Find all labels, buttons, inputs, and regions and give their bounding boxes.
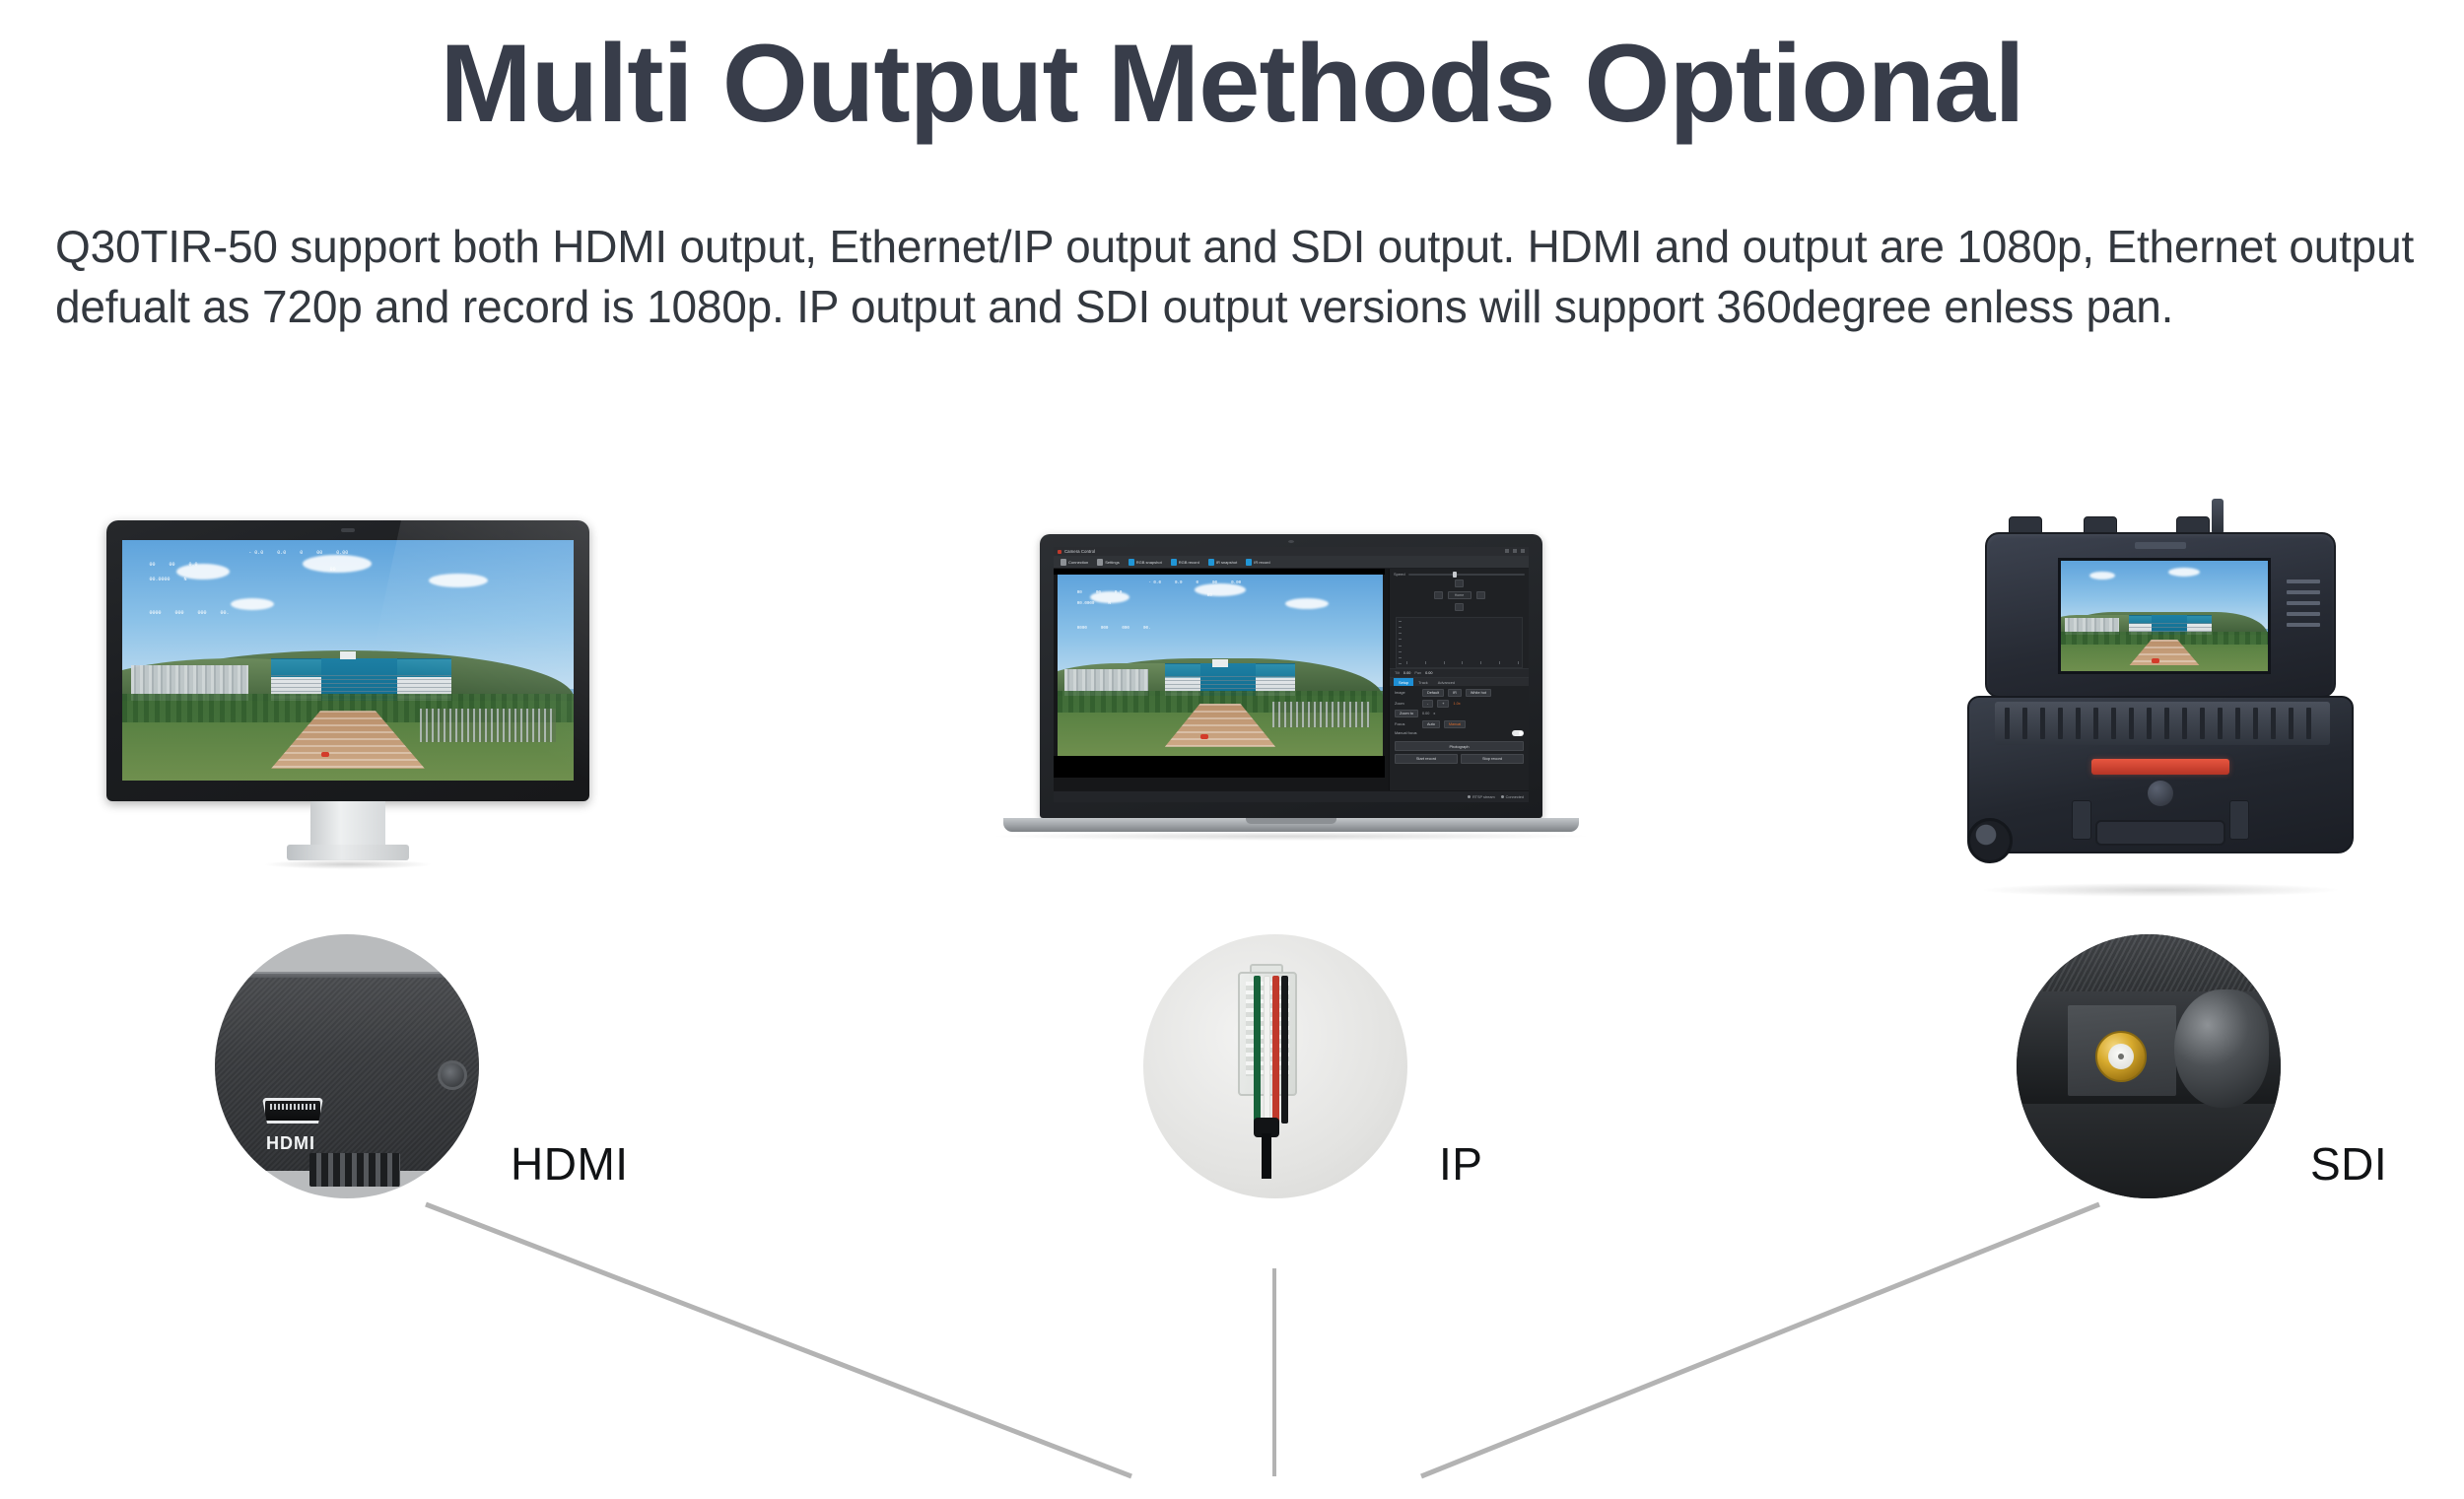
row-focus: Focus Auto Manual [1395, 720, 1524, 728]
osd-top-center-row-1: - 0.0 0.0 0 00 0.00 [1148, 581, 1241, 585]
toolbar-label: Connection [1068, 560, 1088, 565]
monitor-shadow [263, 859, 433, 869]
monitor-stand-foot [287, 845, 409, 860]
row-zoom-to: Zoom to 0.00 x [1395, 710, 1524, 717]
laptop-lid: Camera Control Connection [1040, 534, 1542, 818]
hdmi-closeup-circle: HDMI [215, 934, 479, 1198]
monitor-bezel: - 0.0 0.0 0 00 0.00 00 00 00 0.0 [106, 520, 589, 801]
display-button[interactable] [2287, 601, 2320, 605]
device-rugged-case [1953, 512, 2367, 877]
video-scene [2061, 561, 2268, 671]
slider-thumb[interactable] [1453, 572, 1457, 578]
osd-top-center-row-1: - 0.0 0.0 0 00 0.00 [248, 550, 348, 556]
toolbar-item-ir-snapshot[interactable]: IR snapshot [1205, 558, 1240, 567]
device-laptop: Camera Control Connection [995, 534, 1587, 879]
status-connection: Connected [1501, 795, 1524, 799]
antenna [2212, 499, 2224, 534]
page-title: Multi Output Methods Optional [0, 26, 2464, 143]
osd-overlay: - 0.0 0.0 0 00 0.00 00 00 00 0.0 [122, 540, 574, 781]
speed-slider[interactable] [1408, 574, 1525, 576]
wire-red [1272, 976, 1279, 1124]
osd-top-left-row-3: 0000 000 000 00. [1077, 627, 1151, 631]
monitor-stand-neck [310, 801, 385, 851]
pan-label: Pan [1414, 671, 1421, 675]
zoom-to-unit: x [1433, 712, 1435, 715]
close-icon[interactable] [1521, 549, 1525, 553]
tab-setup[interactable]: Setup [1394, 678, 1413, 686]
panel-tabs: Setup Track Advanced [1390, 678, 1529, 686]
row-label: Manual focus [1395, 731, 1418, 735]
record-icon [1171, 559, 1177, 566]
toolbar-label: RGB record [1179, 560, 1199, 565]
speed-label: Speed [1394, 572, 1405, 577]
lid-latch [2135, 542, 2186, 549]
display-button[interactable] [2287, 590, 2320, 594]
photograph-button[interactable]: Photograph [1395, 741, 1524, 751]
status-bar: RTSP stream Connected [1054, 790, 1529, 802]
case-lid [1985, 532, 2336, 698]
hdmi-port-pins [270, 1104, 315, 1110]
dpad-left-button[interactable] [1434, 591, 1443, 599]
toolbar-item-connection[interactable]: Connection [1058, 558, 1091, 567]
maximize-icon[interactable] [1513, 549, 1517, 553]
row-label: Zoom [1395, 702, 1418, 706]
graph-x-axis [1406, 661, 1519, 665]
focus-auto-button[interactable]: Auto [1422, 720, 1440, 728]
display-button[interactable] [2287, 579, 2320, 583]
case-display [2058, 558, 2271, 674]
output-label-ip: IP [1439, 1137, 1482, 1191]
focus-manual-button[interactable]: Manual [1444, 720, 1466, 728]
camera-icon [1208, 559, 1214, 566]
toolbar-label: RGB snapshot [1136, 560, 1162, 565]
graph-y-axis [1399, 621, 1404, 664]
video-letterbox-bottom [1054, 756, 1385, 778]
status-stream: RTSP stream [1468, 795, 1495, 799]
status-indicator-strip [2091, 759, 2229, 775]
sdi-closeup-circle [2017, 934, 2281, 1198]
device-desktop-monitor: - 0.0 0.0 0 00 0.00 00 00 00 0.0 [106, 520, 589, 875]
zoom-to-button[interactable]: Zoom to [1395, 710, 1418, 717]
toolbar-label: IR record [1254, 560, 1269, 565]
case-interior-tray [1995, 702, 2330, 745]
toolbar-label: Settings [1105, 560, 1119, 565]
app-logo-icon [1058, 550, 1061, 554]
laptop-screen: Camera Control Connection [1054, 547, 1529, 802]
wire-black [1281, 976, 1288, 1124]
case-clasp-left[interactable] [2072, 800, 2091, 840]
image-ir-button[interactable]: IR [1448, 689, 1462, 697]
row-label: Focus [1395, 722, 1418, 726]
stop-record-button[interactable]: Stop record [1461, 754, 1524, 764]
display-buttons[interactable] [2287, 579, 2320, 627]
output-label-sdi: SDI [2310, 1137, 2387, 1191]
image-default-button[interactable]: Default [1422, 689, 1444, 697]
gimbal-top-housing [2017, 934, 2281, 993]
zoom-out-button[interactable]: - [1422, 700, 1433, 708]
ptz-dpad[interactable]: Home [1390, 578, 1529, 617]
speed-control[interactable]: Speed [1390, 569, 1529, 578]
control-panel: Speed Home [1389, 569, 1529, 790]
start-record-button[interactable]: Start record [1395, 754, 1458, 764]
case-wheel [1967, 818, 2013, 863]
dpad-up-button[interactable] [1455, 579, 1464, 587]
toolbar-item-rgb-record[interactable]: RGB record [1168, 558, 1202, 567]
pan-value: 0.00 [1425, 671, 1432, 675]
toolbar-item-rgb-snapshot[interactable]: RGB snapshot [1126, 558, 1165, 567]
camera-icon [1129, 559, 1134, 566]
osd-top-left-row-1: 00 00 0.0 [149, 562, 197, 568]
body-hole [215, 1104, 219, 1118]
connector-line-hdmi [426, 1204, 1131, 1476]
display-button[interactable] [2287, 623, 2320, 627]
hdmi-port-icon [262, 1098, 323, 1124]
infographic-page: Multi Output Methods Optional Q30TIR-50 … [0, 0, 2464, 1499]
webcam-icon [1288, 540, 1294, 543]
red-vehicle [2152, 658, 2159, 663]
webcam-icon [341, 528, 355, 532]
gimbal-bottom-housing [2017, 1104, 2281, 1198]
output-label-hdmi: HDMI [511, 1137, 629, 1191]
angle-readout: Tilt 0.00 Pan 0.00 [1390, 668, 1529, 678]
toolbar-label: IR snapshot [1216, 560, 1237, 565]
row-manual-focus: Manual focus [1395, 730, 1524, 736]
cable-tail [1262, 1133, 1271, 1179]
vent-grille [309, 1153, 400, 1187]
dpad-home-button[interactable]: Home [1448, 591, 1472, 599]
zoom-value: 1.0x [1453, 702, 1460, 706]
hdmi-silkscreen-label: HDMI [266, 1133, 315, 1154]
tab-track[interactable]: Track [1413, 678, 1433, 686]
monitor-screen: - 0.0 0.0 0 00 0.00 00 00 00 0.0 [122, 540, 574, 781]
screw-icon [438, 1060, 467, 1090]
tilt-value: 0.00 [1403, 671, 1410, 675]
osd-top-left-row-3: 0000 000 000 00. [149, 610, 229, 616]
osd-top-left-row-2: 00.0000 N [149, 577, 186, 582]
osd-top-center-row-2: 00 [330, 567, 336, 573]
video-scene: - 0.0 0.0 0 00 0.00 00 00 00 0.0 [122, 540, 574, 781]
record-icon [1246, 559, 1252, 566]
app-title: Camera Control [1064, 549, 1095, 554]
laptop-hinge-notch [1246, 818, 1336, 824]
video-preview[interactable]: - 0.0 0.0 0 00 0.00 00 0 [1058, 575, 1383, 756]
ip-closeup-circle [1143, 934, 1407, 1198]
toolbar-item-settings[interactable]: Settings [1094, 558, 1122, 567]
intro-paragraph: Q30TIR-50 support both HDMI output, Ethe… [55, 217, 2421, 337]
laptop-shadow [995, 832, 1587, 841]
sma-connector-icon [2095, 1031, 2147, 1082]
cloud [2168, 568, 2200, 577]
angle-graph [1396, 617, 1523, 668]
dpad-down-button[interactable] [1455, 603, 1464, 611]
setup-rows: Image Default IR White hot Zoom - + 1.0x [1390, 686, 1529, 739]
wire-white [1264, 976, 1270, 1124]
control-knob[interactable] [2148, 781, 2173, 806]
osd-overlay: - 0.0 0.0 0 00 0.00 00 0 [1058, 575, 1383, 756]
window-controls[interactable] [1505, 549, 1525, 553]
row-image: Image Default IR White hot [1395, 689, 1524, 697]
manual-focus-toggle[interactable] [1512, 730, 1524, 736]
gear-icon [1097, 559, 1103, 566]
osd-top-center-row-2: 00 [1207, 594, 1212, 598]
osd-top-left-row-1: 00 00 0.0 [1077, 591, 1123, 595]
camera-body: HDMI [215, 978, 479, 1171]
wire-green [1254, 976, 1261, 1124]
case-clasp-right[interactable] [2229, 800, 2249, 840]
toolbar-item-ir-record[interactable]: IR record [1243, 558, 1272, 567]
plug-icon [1061, 559, 1066, 566]
zoom-to-value: 0.00 [1422, 712, 1429, 715]
image-whitehot-button[interactable]: White hot [1466, 689, 1491, 697]
video-scene: - 0.0 0.0 0 00 0.00 00 0 [1058, 575, 1383, 756]
tab-advanced[interactable]: Advanced [1433, 678, 1460, 686]
app-toolbar: Connection Settings RGB snapshot RG [1054, 556, 1529, 569]
dpad-right-button[interactable] [1476, 591, 1485, 599]
row-zoom: Zoom - + 1.0x [1395, 700, 1524, 708]
case-shadow [1983, 883, 2338, 897]
record-buttons: Start record Stop record [1395, 754, 1524, 764]
vms-application: Camera Control Connection [1054, 547, 1529, 802]
row-label: Image [1395, 691, 1418, 695]
tilt-label: Tilt [1395, 671, 1400, 675]
gimbal-yoke [2174, 989, 2269, 1108]
panel-actions: Photograph Start record Stop record [1390, 739, 1529, 766]
osd-top-left-row-2: 00.0000 N [1077, 602, 1111, 606]
display-button[interactable] [2287, 612, 2320, 616]
case-body [1967, 696, 2354, 853]
case-handle[interactable] [2095, 820, 2225, 846]
zoom-in-button[interactable]: + [1437, 700, 1449, 708]
minimize-icon[interactable] [1505, 549, 1509, 553]
app-title-bar: Camera Control [1054, 547, 1529, 556]
connector-line-sdi [1421, 1204, 2099, 1476]
